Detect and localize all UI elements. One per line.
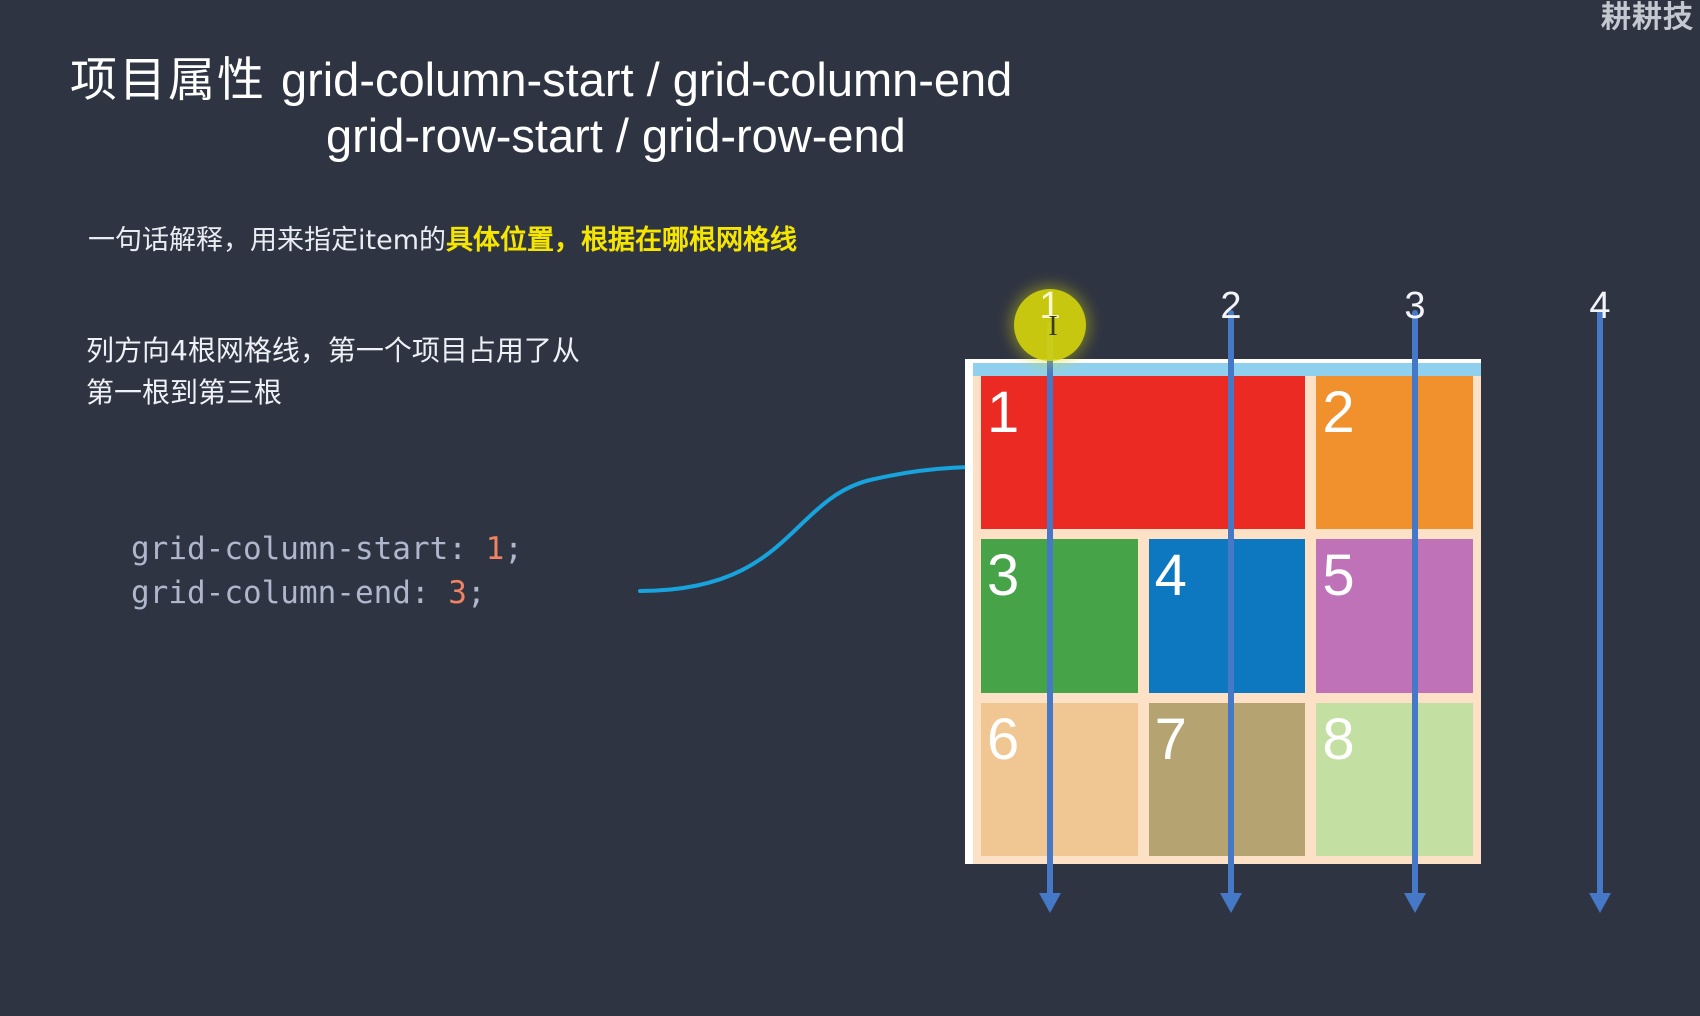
grid-item-7-label: 7 [1155, 707, 1187, 772]
gridline-4 [1597, 310, 1603, 895]
grid-item-2-label: 2 [1322, 380, 1354, 445]
code-line-1: grid-column-start: 1; [131, 527, 523, 571]
code-line-2: grid-column-end: 3; [131, 571, 523, 615]
code-terminator-1: ; [504, 531, 523, 567]
title-line-1: 项目属性 grid-column-start / grid-column-end [70, 52, 1012, 108]
grid-item-3[interactable]: 3 [981, 539, 1138, 692]
code-property-grid-column-end: grid-column-end: [131, 575, 430, 611]
explanation-paragraph: 列方向4根网格线，第一个项目占用了从 第一根到第三根 [86, 330, 580, 414]
code-block: grid-column-start: 1; grid-column-end: 3… [131, 527, 523, 615]
gridline-2-arrow [1220, 893, 1242, 913]
grid-item-6[interactable]: 6 [981, 703, 1138, 856]
code-value-grid-column-end: 3 [448, 575, 467, 611]
code-property-grid-column-start: grid-column-start: [131, 531, 467, 567]
gridline-1 [1047, 322, 1053, 895]
gridline-label-4: 4 [1589, 285, 1610, 328]
code-value-grid-column-start: 1 [486, 531, 505, 567]
gridline-label-2: 2 [1220, 285, 1241, 328]
watermark: 耕耕技 [1601, 0, 1694, 36]
subtitle-plain-text: 一句话解释，用来指定item的 [88, 225, 446, 256]
gridline-label-3: 3 [1404, 285, 1425, 328]
gridline-3 [1412, 310, 1418, 895]
gridline-3-arrow [1404, 893, 1426, 913]
slide-canvas: 耕耕技 项目属性 grid-column-start / grid-column… [0, 0, 1700, 1016]
grid-item-2[interactable]: 2 [1316, 376, 1473, 529]
grid-diagram: 1 2 3 4 5 6 7 8 [965, 359, 1481, 864]
grid-item-4-label: 4 [1155, 543, 1187, 608]
text-cursor-icon: I [1048, 311, 1057, 343]
grid-container-border: 1 2 3 4 5 6 7 8 [965, 359, 1481, 864]
gridline-1-arrow [1039, 893, 1061, 913]
title-column-properties: grid-column-start / grid-column-end [281, 53, 1012, 106]
gridline-2 [1228, 310, 1234, 895]
subtitle-highlighted-text: 具体位置，根据在哪根网格线 [446, 225, 797, 256]
grid-item-5-label: 5 [1322, 543, 1354, 608]
gridline-4-arrow [1589, 893, 1611, 913]
title-row-properties: grid-row-start / grid-row-end [326, 108, 1012, 163]
grid-item-8-label: 8 [1322, 707, 1354, 772]
code-terminator-2: ; [467, 575, 486, 611]
grid-item-4[interactable]: 4 [1149, 539, 1306, 692]
grid-item-8[interactable]: 8 [1316, 703, 1473, 856]
grid-item-3-label: 3 [987, 543, 1019, 608]
grid-item-6-label: 6 [987, 707, 1019, 772]
page-title: 项目属性 grid-column-start / grid-column-end… [70, 52, 1012, 164]
grid-item-1-label: 1 [987, 380, 1019, 445]
title-chinese-label: 项目属性 [70, 53, 266, 108]
subtitle: 一句话解释，用来指定item的具体位置，根据在哪根网格线 [88, 218, 797, 257]
grid-item-5[interactable]: 5 [1316, 539, 1473, 692]
grid-item-1[interactable]: 1 [981, 376, 1305, 529]
grid-item-7[interactable]: 7 [1149, 703, 1306, 856]
